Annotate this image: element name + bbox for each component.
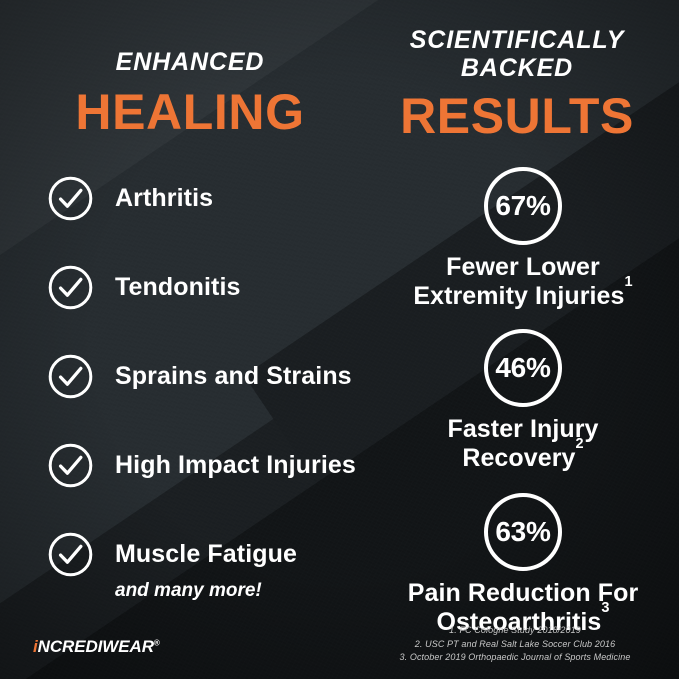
condition-checklist: Arthritis Tendonitis S — [48, 176, 388, 577]
check-circle-icon — [48, 354, 93, 399]
footnotes: 1. FC Cologne Study 2018/2019 2. USC PT … — [365, 624, 665, 665]
footnote-line: 1. FC Cologne Study 2018/2019 — [365, 624, 665, 638]
stat-caption-line1: Pain Reduction For — [378, 579, 668, 608]
stat-caption-line2-text: Recovery — [462, 444, 575, 472]
brand-logo: iNCREDIWEAR® — [33, 637, 160, 657]
list-item-label: Tendonitis — [115, 273, 241, 302]
list-item-label: Sprains and Strains — [115, 362, 352, 391]
list-item: Arthritis — [48, 176, 388, 221]
check-circle-icon — [48, 176, 93, 221]
stat-value: 46% — [483, 328, 563, 408]
stat-caption-line2: Extremity Injuries1 — [378, 282, 668, 311]
check-circle-icon — [48, 443, 93, 488]
heading-right-main: RESULTS — [372, 91, 662, 141]
checklist-footer-note: and many more! — [115, 580, 262, 602]
footnote-line: 3. October 2019 Orthopaedic Journal of S… — [365, 651, 665, 665]
stat-footnote-ref: 3 — [601, 600, 609, 616]
list-item: High Impact Injuries — [48, 443, 388, 488]
infographic-poster: ENHANCED HEALING SCIENTIFICALLY BACKED R… — [0, 0, 679, 679]
stat-block: 46% Faster Injury Recovery2 — [378, 328, 668, 474]
heading-right: SCIENTIFICALLY BACKED RESULTS — [372, 26, 662, 141]
list-item-label: Muscle Fatigue — [115, 540, 297, 569]
list-item: Muscle Fatigue — [48, 532, 388, 577]
brand-logo-wordmark: NCREDIWEAR — [38, 637, 154, 656]
stat-value: 67% — [483, 166, 563, 246]
stat-ring-icon: 63% — [483, 492, 563, 572]
registered-trademark-icon: ® — [154, 638, 160, 647]
stat-ring-icon: 46% — [483, 328, 563, 408]
heading-left-kicker: ENHANCED — [40, 48, 340, 76]
stat-ring-icon: 67% — [483, 166, 563, 246]
list-item-label: Arthritis — [115, 184, 213, 213]
stat-caption-line2-text: Extremity Injuries — [413, 282, 624, 310]
check-circle-icon — [48, 532, 93, 577]
stat-caption: Fewer Lower Extremity Injuries1 — [378, 253, 668, 312]
list-item-label: High Impact Injuries — [115, 451, 356, 480]
stat-caption-line1: Faster Injury — [378, 415, 668, 444]
heading-right-kicker-line2: BACKED — [372, 54, 662, 82]
heading-right-kicker-line1: SCIENTIFICALLY — [372, 26, 662, 54]
stat-caption: Faster Injury Recovery2 — [378, 415, 668, 474]
stat-value: 63% — [483, 492, 563, 572]
list-item: Sprains and Strains — [48, 354, 388, 399]
list-item: Tendonitis — [48, 265, 388, 310]
check-circle-icon — [48, 265, 93, 310]
stat-block: 63% Pain Reduction For Osteoarthritis3 — [378, 492, 668, 638]
stat-footnote-ref: 1 — [625, 274, 633, 290]
stat-caption-line2: Recovery2 — [378, 444, 668, 473]
stat-footnote-ref: 2 — [576, 436, 584, 452]
heading-left-main: HEALING — [40, 87, 340, 137]
stat-block: 67% Fewer Lower Extremity Injuries1 — [378, 166, 668, 312]
heading-left: ENHANCED HEALING — [40, 48, 340, 137]
footnote-line: 2. USC PT and Real Salt Lake Soccer Club… — [365, 638, 665, 652]
